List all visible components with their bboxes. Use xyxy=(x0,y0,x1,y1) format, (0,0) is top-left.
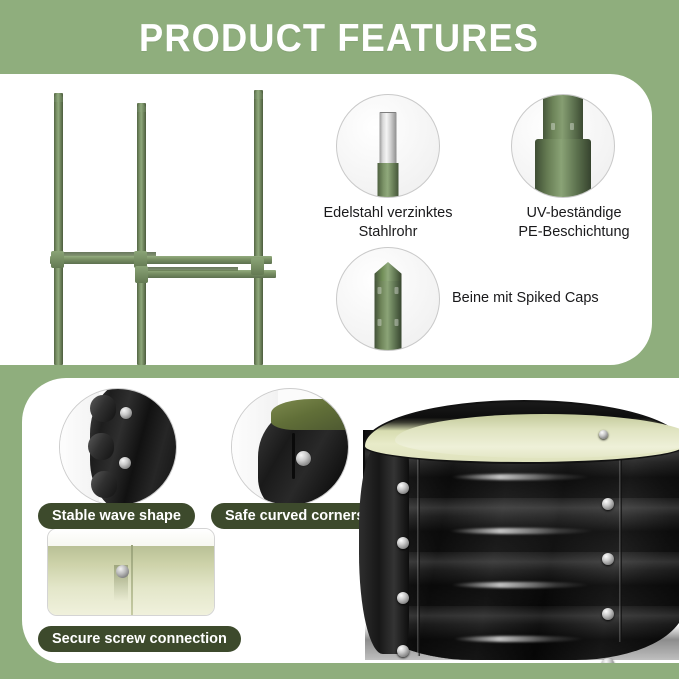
bed-screw-right-1 xyxy=(602,498,614,510)
bed-cream-interior xyxy=(395,414,679,458)
leg-notch-lower-left xyxy=(378,319,382,326)
trellis-frame-illustration xyxy=(18,80,286,365)
frame-post-middle xyxy=(137,103,146,365)
corner-detail-image xyxy=(232,389,348,505)
bed-seam-left xyxy=(417,430,420,656)
wave-ridge-top xyxy=(90,395,116,422)
wave-detail-image xyxy=(60,389,176,505)
leg-notch-upper-right xyxy=(395,287,399,294)
wave-ridge-bottom xyxy=(91,471,117,498)
screw-joint-icon xyxy=(47,528,215,616)
pe-coating-label: UV-beständige PE-Beschichtung xyxy=(498,204,650,242)
bed-highlight-4 xyxy=(453,636,585,642)
bed-highlight-1 xyxy=(451,474,591,480)
header-banner: PRODUCT FEATURES xyxy=(0,0,679,78)
sleeve-notch-right xyxy=(570,123,574,130)
panel-screw-head xyxy=(116,565,129,578)
product-features-infographic: PRODUCT FEATURES xyxy=(0,0,679,679)
bed-corrugation-row-4 xyxy=(365,606,679,660)
page-title: PRODUCT FEATURES xyxy=(139,17,539,61)
corner-screw xyxy=(296,451,311,466)
frame-crossbar-upper xyxy=(50,256,272,264)
bed-screw-left-3 xyxy=(397,592,409,604)
stainless-steel-section xyxy=(380,112,397,165)
rounded-corner-icon xyxy=(231,388,349,506)
bed-corrugation-row-3 xyxy=(365,552,679,606)
spiked-caps-label: Beine mit Spiked Caps xyxy=(452,289,652,308)
badge-secure-screw-connection[interactable]: Secure screw connection xyxy=(38,626,241,652)
steel-tube-label: Edelstahl verzinktes Stahlrohr xyxy=(280,204,496,242)
pe-coated-tube-icon xyxy=(511,94,615,198)
wave-screw-bottom xyxy=(119,457,131,469)
footer-green-strip xyxy=(0,663,679,679)
bed-screw-left-4 xyxy=(397,645,409,657)
badge-safe-curved-corners[interactable]: Safe curved corners xyxy=(211,503,378,529)
bed-screw-left-2 xyxy=(397,537,409,549)
frame-features-panel: Edelstahl verzinktes Stahlrohr UV-bestän… xyxy=(0,74,652,365)
bed-corrugation-row-2 xyxy=(365,498,679,552)
frame-bracket-lower-right xyxy=(251,258,264,275)
badge-stable-wave-shape[interactable]: Stable wave shape xyxy=(38,503,195,529)
bed-highlight-2 xyxy=(449,528,595,534)
frame-rail-lower xyxy=(144,267,238,271)
bed-screw-rim xyxy=(599,430,608,439)
corner-green-rim xyxy=(271,399,349,429)
bed-screw-right-3 xyxy=(602,608,614,620)
tube-upper-sleeve xyxy=(543,95,583,141)
screw-panel-seam xyxy=(131,545,133,616)
wave-corrugation-icon xyxy=(59,388,177,506)
frame-bracket-upper-left xyxy=(51,251,64,268)
spike-leg-body xyxy=(375,281,402,351)
frame-post-right xyxy=(254,90,263,365)
bed-screw-right-2 xyxy=(602,553,614,565)
frame-bracket-lower-middle xyxy=(135,266,148,283)
bed-outer-wall xyxy=(363,430,679,660)
bed-top-rim xyxy=(363,400,679,464)
corner-seam-line xyxy=(292,433,295,479)
frame-post-left xyxy=(54,93,63,365)
bed-seam-right xyxy=(619,430,622,642)
coated-section xyxy=(378,163,399,198)
steel-tube-icon xyxy=(336,94,440,198)
leg-notch-upper-left xyxy=(378,287,382,294)
tube-lower-sleeve xyxy=(535,139,591,198)
sleeve-notch-left xyxy=(551,123,555,130)
bed-left-corrugated-edge xyxy=(359,444,409,654)
leg-notch-lower-right xyxy=(395,319,399,326)
bed-highlight-3 xyxy=(451,582,591,588)
bed-screw-left-1 xyxy=(397,482,409,494)
spike-cap-tip xyxy=(375,262,402,282)
spiked-cap-leg-icon xyxy=(336,247,440,351)
black-raised-garden-bed xyxy=(355,400,679,668)
wave-ridge-mid xyxy=(88,433,114,460)
wave-screw-top xyxy=(120,407,132,419)
